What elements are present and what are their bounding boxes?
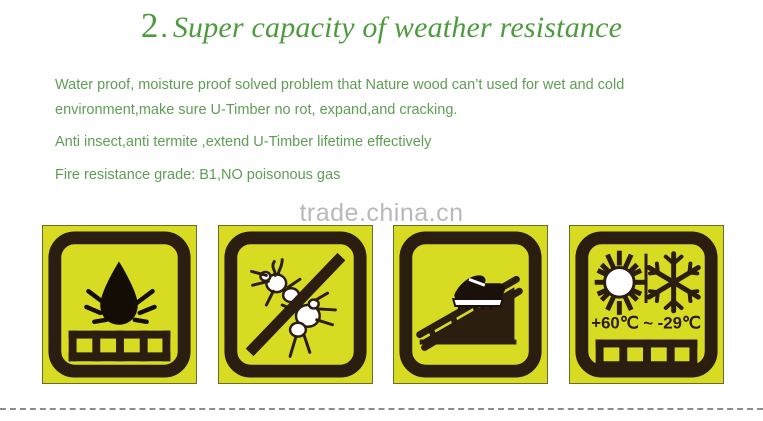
section-number: 2 <box>141 6 159 45</box>
feature-icon-row: +60℃ ~ -29℃ <box>42 225 724 384</box>
body-paragraph-2: Anti insect,anti termite ,extend U-Timbe… <box>55 130 431 155</box>
watermark: trade.china.cn <box>0 199 763 228</box>
temperature-range-label: +60℃ ~ -29℃ <box>591 314 701 333</box>
water-proof-icon <box>42 225 197 384</box>
body-paragraph-2-text: Anti insect,anti termite ,extend U-Timbe… <box>55 134 431 150</box>
body-paragraph-3: Fire resistance grade: B1,NO poisonous g… <box>55 163 340 188</box>
watermark-text: trade.china.cn <box>299 199 463 227</box>
body-paragraph-1: Water proof, moisture proof solved probl… <box>55 73 705 123</box>
temperature-resistance-icon: +60℃ ~ -29℃ <box>569 225 724 384</box>
section-number-dot: . <box>158 11 173 44</box>
anti-slip-icon <box>393 225 548 384</box>
page-title: 2.Super capacity of weather resistance <box>0 6 763 46</box>
section-divider <box>0 408 763 410</box>
section-title-text: Super capacity of weather resistance <box>173 11 622 44</box>
body-paragraph-3-text: Fire resistance grade: B1,NO poisonous g… <box>55 167 340 183</box>
anti-insect-icon <box>218 225 373 384</box>
body-paragraph-1-text: Water proof, moisture proof solved probl… <box>55 77 624 118</box>
